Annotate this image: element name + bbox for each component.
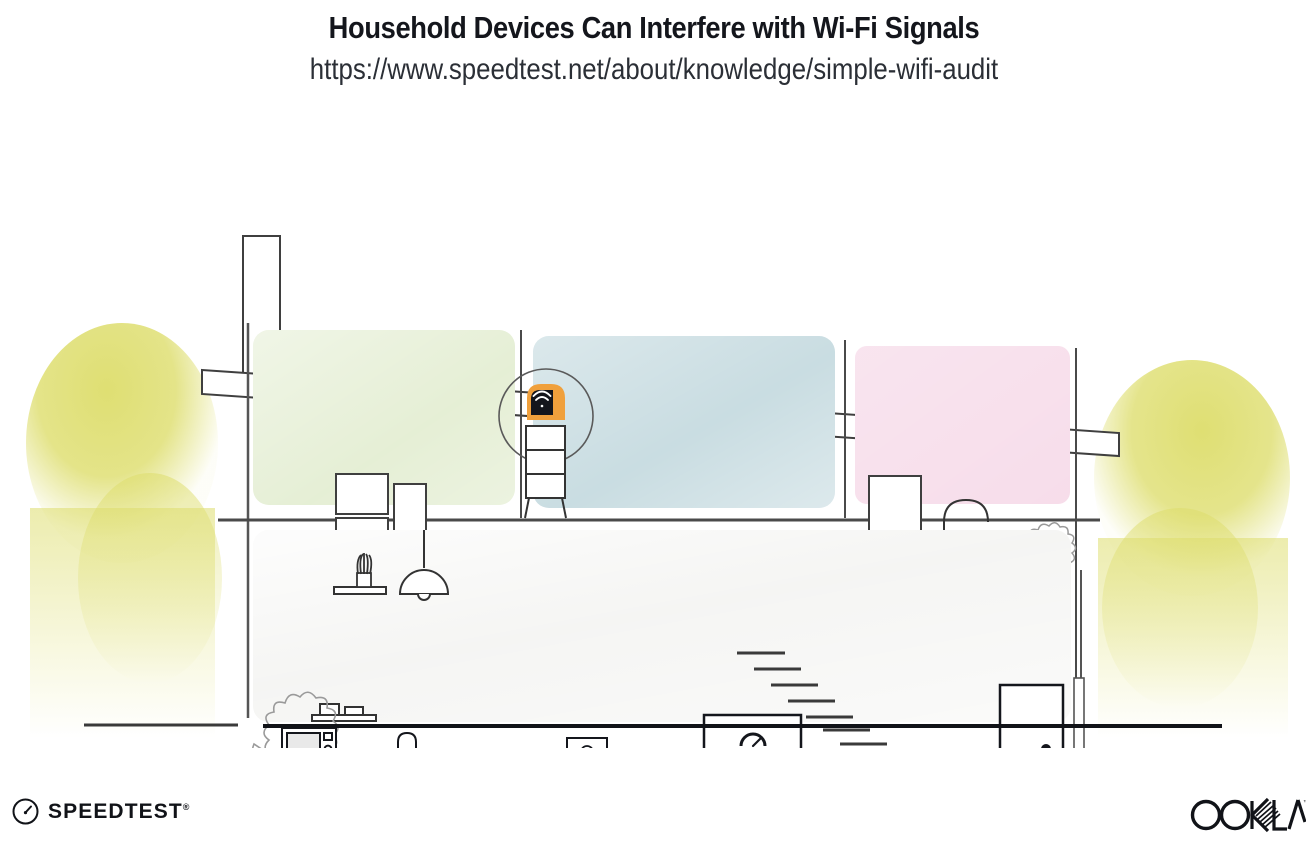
speedtest-logo: SPEEDTEST® xyxy=(12,798,189,825)
ookla-logo: ™ xyxy=(1190,794,1306,841)
sink-faucet xyxy=(398,733,416,748)
infographic-page: Household Devices Can Interfere with Wi-… xyxy=(0,0,1308,861)
header: Household Devices Can Interfere with Wi-… xyxy=(0,0,1308,88)
speedtest-gauge-icon xyxy=(12,798,39,825)
ground-line xyxy=(84,725,1222,726)
ookla-trademark: ™ xyxy=(1303,799,1306,806)
television: SPEEDTEST xyxy=(704,715,801,748)
foliage-left xyxy=(26,323,222,738)
foliage-right xyxy=(1094,360,1290,738)
speedtest-wordmark: SPEEDTEST® xyxy=(48,800,189,824)
speedtest-trademark: ® xyxy=(183,802,190,812)
front-door[interactable] xyxy=(990,685,1063,748)
house-illustration: SPEEDTEST xyxy=(0,108,1308,748)
room-downstairs xyxy=(253,530,1071,722)
speedtest-wordmark-text: SPEEDTEST xyxy=(48,800,183,823)
ookla-wordmark: ™ xyxy=(1190,794,1306,836)
wall-shelf-upper xyxy=(334,587,386,594)
wifi-router[interactable] xyxy=(527,384,565,420)
laptop: SPEEDTEST xyxy=(556,738,618,748)
framed-art-nursery xyxy=(869,476,921,538)
page-title: Household Devices Can Interfere with Wi-… xyxy=(78,0,1229,46)
footer: SPEEDTEST® xyxy=(0,780,1308,855)
source-url: https://www.speedtest.net/about/knowledg… xyxy=(92,46,1217,88)
room-bedroom-blue xyxy=(533,336,835,508)
microwave xyxy=(282,728,336,748)
